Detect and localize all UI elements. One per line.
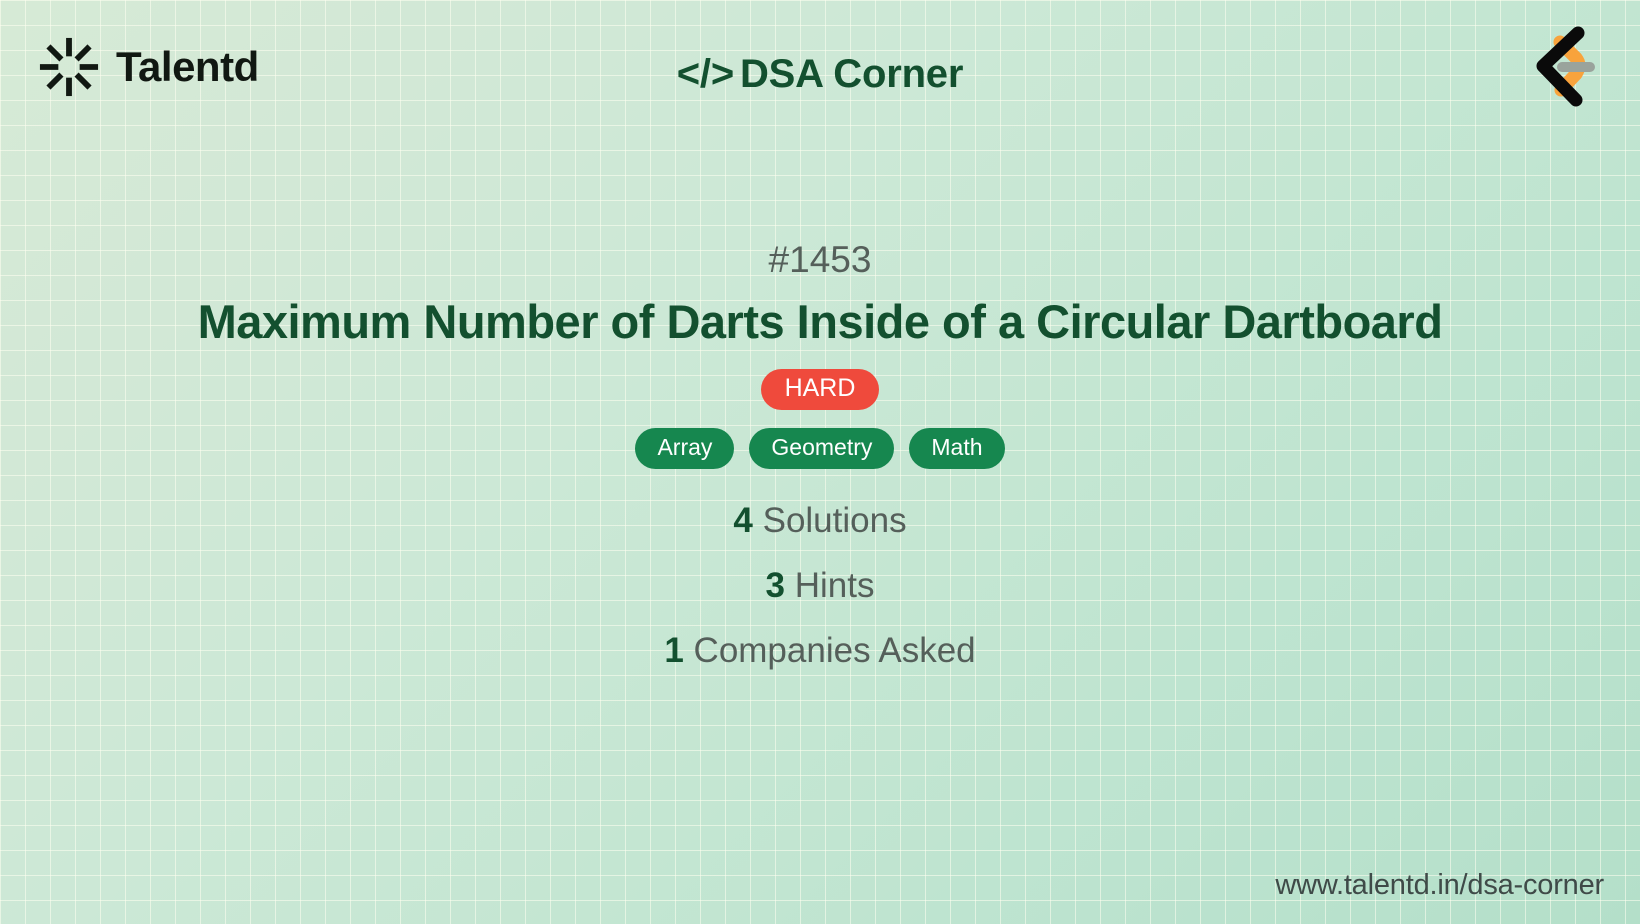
topic-tag[interactable]: Array bbox=[635, 428, 734, 469]
topic-tag[interactable]: Geometry bbox=[749, 428, 894, 469]
stat-companies: 1 Companies Asked bbox=[0, 633, 1640, 668]
stat-solutions-label: Solutions bbox=[753, 501, 907, 540]
stat-hints-value: 3 bbox=[766, 566, 785, 605]
stat-solutions: 4 Solutions bbox=[0, 503, 1640, 538]
page-title: </>DSA Corner bbox=[0, 52, 1640, 97]
topic-tags: Array Geometry Math bbox=[0, 428, 1640, 469]
page-title-text: DSA Corner bbox=[740, 52, 963, 96]
stat-hints: 3 Hints bbox=[0, 568, 1640, 603]
footer-url[interactable]: www.talentd.in/dsa-corner bbox=[1275, 869, 1604, 902]
dsa-corner-problem-card: Talentd </>DSA Corner #1453 Maximum Numb… bbox=[0, 0, 1640, 924]
stat-companies-label: Companies Asked bbox=[684, 631, 976, 670]
stat-companies-value: 1 bbox=[664, 631, 683, 670]
stat-hints-label: Hints bbox=[785, 566, 874, 605]
topic-tag[interactable]: Math bbox=[909, 428, 1004, 469]
difficulty-badge: HARD bbox=[761, 369, 880, 410]
code-glyph-icon: </> bbox=[677, 52, 734, 96]
leetcode-logo-icon bbox=[1516, 22, 1602, 114]
difficulty-row: HARD bbox=[0, 369, 1640, 410]
problem-title: Maximum Number of Darts Inside of a Circ… bbox=[0, 295, 1640, 349]
stat-solutions-value: 4 bbox=[733, 501, 752, 540]
problem-number: #1453 bbox=[0, 240, 1640, 281]
card-header: Talentd </>DSA Corner bbox=[0, 0, 1640, 155]
problem-details: #1453 Maximum Number of Darts Inside of … bbox=[0, 240, 1640, 698]
